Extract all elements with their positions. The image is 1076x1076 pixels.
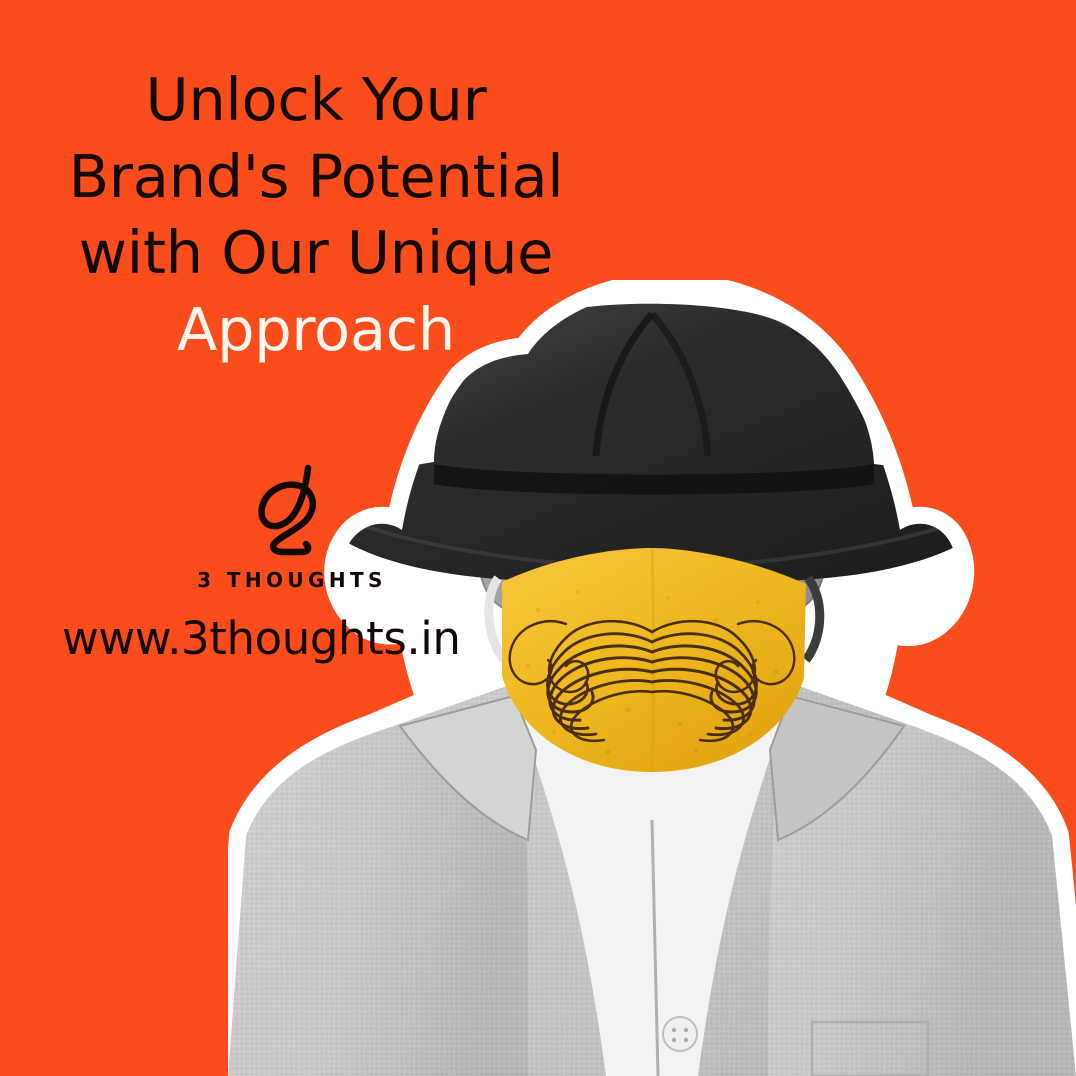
man-with-mustache-mask-photo <box>228 280 1076 1076</box>
three-thoughts-loop-mark <box>246 462 338 562</box>
logo-wordmark: 3 THOUGHTS <box>196 568 388 592</box>
shirt-button <box>663 1017 697 1051</box>
brand-logo[interactable]: 3 THOUGHTS <box>196 462 388 592</box>
headline-line-1: Unlock Your <box>26 62 606 139</box>
headline-line-3: with Our Unique <box>26 215 606 292</box>
headline-line-2: Brand's Potential <box>26 139 606 216</box>
headline: Unlock Your Brand's Potential with Our U… <box>26 62 606 369</box>
poster-canvas: Unlock Your Brand's Potential with Our U… <box>0 0 1076 1076</box>
website-url[interactable]: www.3thoughts.in <box>62 612 461 665</box>
headline-line-4: Approach <box>26 292 606 369</box>
